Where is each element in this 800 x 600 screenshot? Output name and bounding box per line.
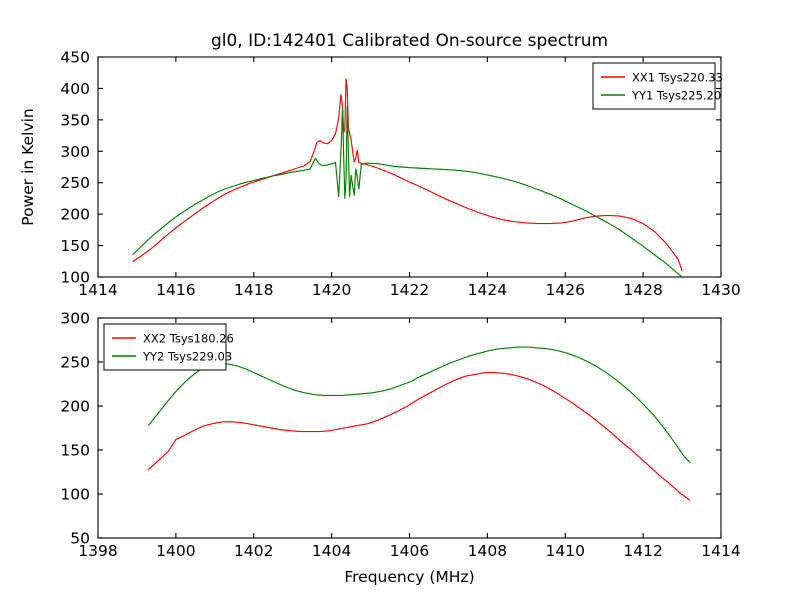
bottom-xticklabel: 1408 [468,542,507,560]
bottom-yticklabel: 300 [60,310,90,328]
spectrum-figure: 1414141614181420142214241426142814301001… [0,0,800,600]
spectrum-plot-canvas: 1414141614181420142214241426142814301001… [0,0,800,600]
bottom-yticklabel: 50 [70,530,90,548]
bottom-xticklabel: 1406 [390,542,429,560]
top-xticklabel: 1422 [390,281,429,299]
bottom-yticklabel: 250 [60,354,90,372]
bottom-legend-label: YY2 Tsys229.03 [142,350,232,364]
top-trace-yy1 [133,106,682,277]
top-xticklabel: 1424 [468,281,507,299]
top-xticklabel: 1418 [234,281,273,299]
bottom-xticklabel: 1412 [623,542,662,560]
bottom-trace-yy2 [149,347,690,462]
top-yticklabel: 400 [60,80,90,98]
bottom-xticklabel: 1402 [234,542,273,560]
bottom-xticklabel: 1400 [156,542,195,560]
top-xticklabel: 1426 [546,281,585,299]
top-yticklabel: 100 [60,269,90,287]
bottom-xticklabel: 1404 [312,542,351,560]
x-axis-label: Frequency (MHz) [344,568,474,586]
bottom-trace-xx2 [149,373,690,501]
top-legend-label: XX1 Tsys220.33 [632,71,723,85]
figure-title: gl0, ID:142401 Calibrated On-source spec… [211,31,608,51]
top-yticklabel: 150 [60,237,90,255]
top-xticklabel: 1430 [701,281,740,299]
top-legend-label: YY1 Tsys225.20 [631,89,721,103]
top-xticklabel: 1428 [623,281,662,299]
top-yticklabel: 200 [60,206,90,224]
bottom-yticklabel: 150 [60,442,90,460]
top-yticklabel: 300 [60,143,90,161]
bottom-yticklabel: 200 [60,398,90,416]
y-axis-label: Power in Kelvin [19,108,37,225]
bottom-xticklabel: 1414 [701,542,740,560]
bottom-legend-label: XX2 Tsys180.26 [143,332,234,346]
top-yticklabel: 350 [60,111,90,129]
bottom-yticklabel: 100 [60,486,90,504]
top-xticklabel: 1416 [156,281,195,299]
bottom-xticklabel: 1410 [546,542,585,560]
top-xticklabel: 1420 [312,281,351,299]
top-yticklabel: 250 [60,174,90,192]
top-yticklabel: 450 [60,49,90,67]
